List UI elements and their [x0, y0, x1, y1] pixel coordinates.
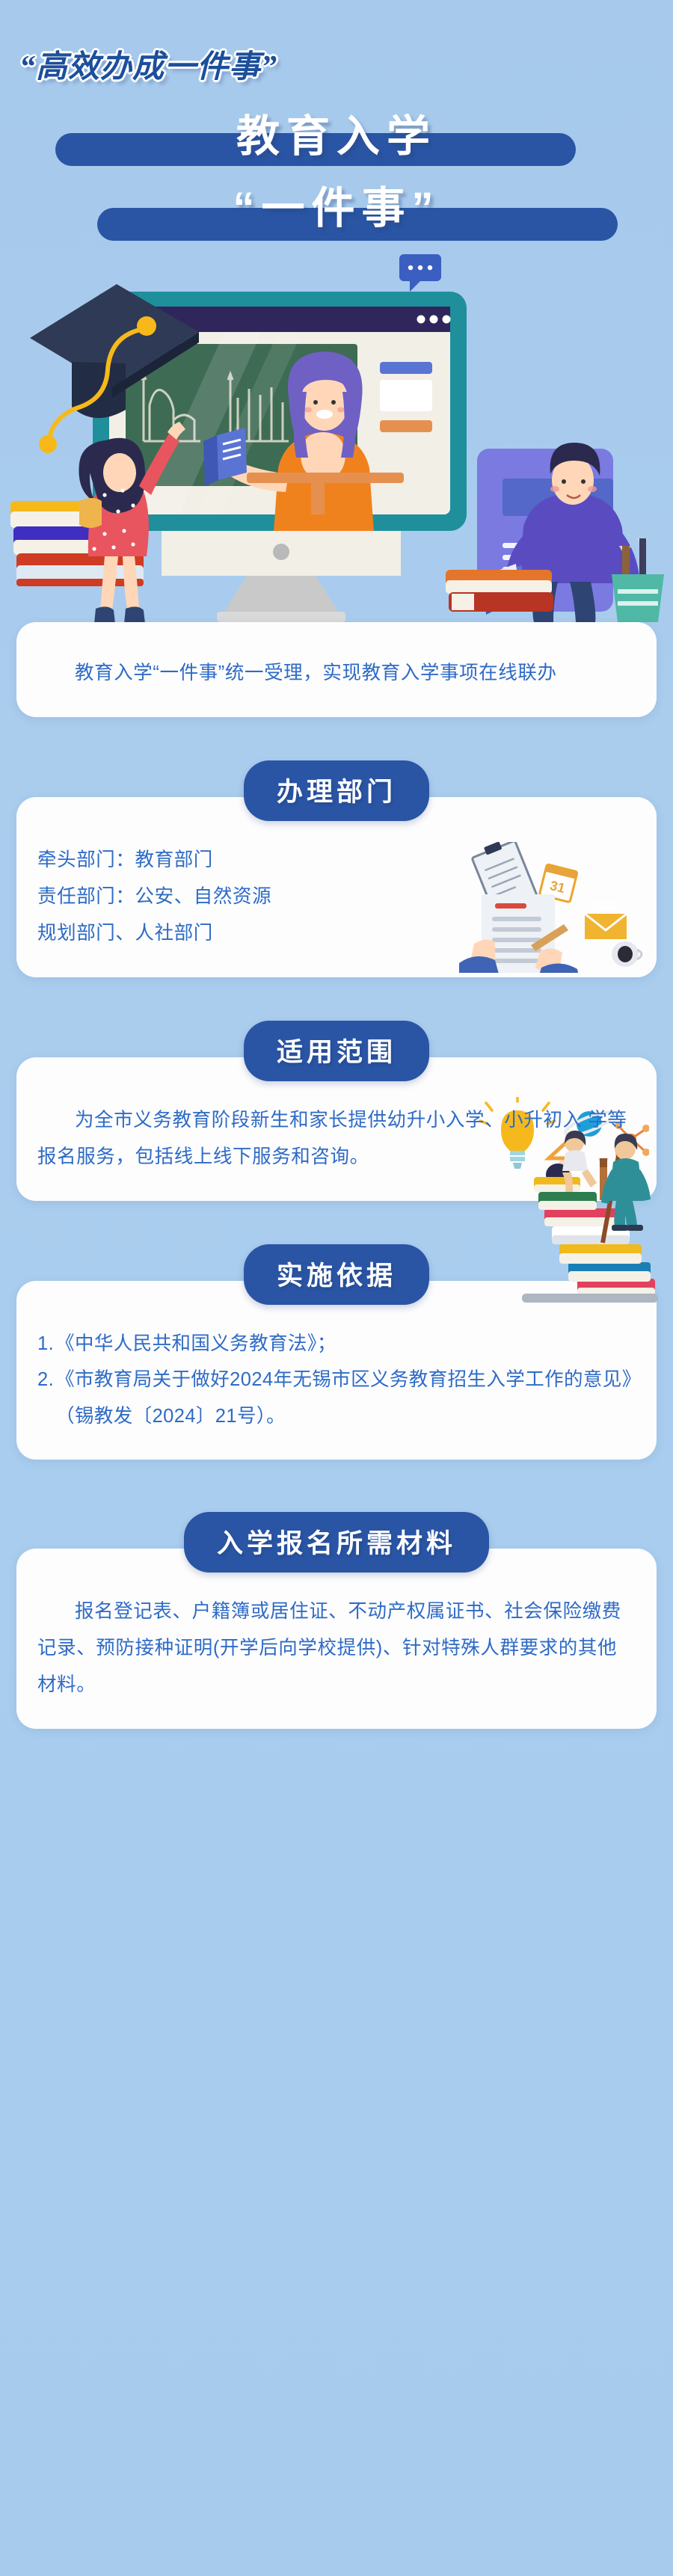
section-handling-departments: 办理部门 牵头部门：教育部门 责任部门：公安、自然资源 规划部门、人社部门 [0, 760, 673, 977]
basis-item-1-number: 1. [37, 1326, 55, 1362]
hero-title-line-1: 教育入学 [0, 105, 673, 169]
intro-card: 教育入学“一件事”统一受理，实现教育入学事项在线联办 [16, 622, 657, 717]
card-required-materials: 报名登记表、户籍簿或居住证、不动产权属证书、社会保险缴费记录、预防接种证明(开学… [16, 1549, 657, 1729]
basis-item-1-text: 《中华人民共和国义务教育法》； [55, 1326, 636, 1362]
pill-implementation-basis: 实施依据 [244, 1244, 429, 1305]
section-scope: 适用范围 为全市义务教育阶段新生和家长提供幼升小入学、小升初入 学等报名服务，包… [0, 1021, 673, 1201]
chat-bubble-icon [399, 254, 441, 292]
notebook-icon [616, 1172, 642, 1201]
section-required-materials: 入学报名所需材料 报名登记表、户籍簿或居住证、不动产权属证书、社会保险缴费记录、… [0, 1512, 673, 1729]
dept-line-responsible-cont: 规划部门、人社部门 [37, 915, 636, 952]
card-handling-departments: 牵头部门：教育部门 责任部门：公安、自然资源 规划部门、人社部门 [16, 797, 657, 977]
hero-title-text-2: “一件事” [0, 176, 673, 241]
pill-scope: 适用范围 [244, 1021, 429, 1081]
card-implementation-basis: 1. 《中华人民共和国义务教育法》； 2. 《市教育局关于做好2024年无锡市区… [16, 1281, 657, 1460]
monitor-stand [162, 531, 401, 622]
section-implementation-basis: 实施依据 1. 《中华人民共和国义务教育法》； 2. 《市教育局关于做好2024… [0, 1244, 673, 1460]
infographic-page: “高效办成一件事” 教育入学 “一件事” [0, 0, 673, 2576]
basis-item-2-number: 2. [37, 1362, 55, 1434]
scope-text: 为全市义务教育阶段新生和家长提供幼升小入学、小升初入 学等报名服务，包括线上线下… [37, 1102, 636, 1175]
pill-handling-departments: 办理部门 [244, 760, 429, 821]
basis-item-1: 1. 《中华人民共和国义务教育法》； [37, 1326, 636, 1362]
hero-title-text-1: 教育入学 [0, 105, 673, 169]
hero-title-line-2: “一件事” [0, 176, 673, 241]
basis-item-2-text: 《市教育局关于做好2024年无锡市区义务教育招生入学工作的意见》（锡教发〔202… [55, 1362, 636, 1434]
book-stack-right [446, 570, 553, 612]
dept-line-lead: 牵头部门：教育部门 [37, 842, 636, 879]
required-materials-text: 报名登记表、户籍簿或居住证、不动产权属证书、社会保险缴费记录、预防接种证明(开学… [37, 1593, 636, 1703]
dept-line-responsible: 责任部门：公安、自然资源 [37, 879, 636, 915]
online-education-illustration [0, 248, 673, 622]
basis-item-2: 2. 《市教育局关于做好2024年无锡市区义务教育招生入学工作的意见》（锡教发〔… [37, 1362, 636, 1434]
pill-required-materials: 入学报名所需材料 [184, 1512, 489, 1573]
hero-title: 教育入学 “一件事” [0, 0, 673, 241]
intro-text: 教育入学“一件事”统一受理，实现教育入学事项在线联办 [37, 655, 636, 692]
